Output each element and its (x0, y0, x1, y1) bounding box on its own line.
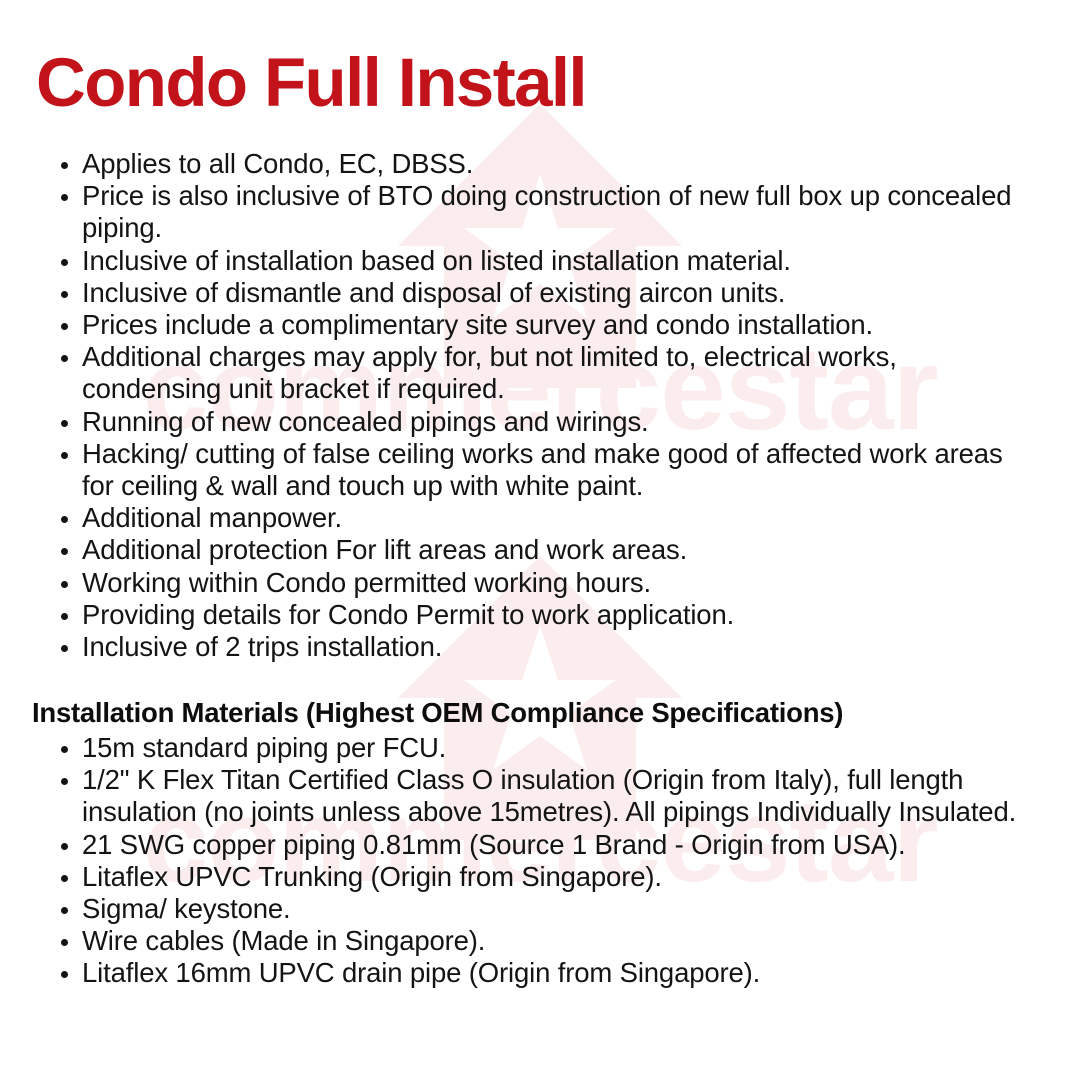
page-title: Condo Full Install (36, 48, 586, 117)
list-item: Litaflex 16mm UPVC drain pipe (Origin fr… (0, 957, 1080, 989)
list-item: Inclusive of installation based on liste… (0, 245, 1080, 277)
list-item: Providing details for Condo Permit to wo… (0, 599, 1080, 631)
list-item: Running of new concealed pipings and wir… (0, 406, 1080, 438)
list-item: Hacking/ cutting of false ceiling works … (0, 438, 1080, 502)
list-item: Working within Condo permitted working h… (0, 567, 1080, 599)
list-item: Prices include a complimentary site surv… (0, 309, 1080, 341)
list-item: Sigma/ keystone. (0, 893, 1080, 925)
list-item: 15m standard piping per FCU. (0, 732, 1080, 764)
installation-materials-heading: Installation Materials (Highest OEM Comp… (32, 697, 843, 729)
list-item: Applies to all Condo, EC, DBSS. (0, 148, 1080, 180)
materials-bullet-list: 15m standard piping per FCU. 1/2" K Flex… (0, 732, 1080, 990)
list-item: Inclusive of 2 trips installation. (0, 631, 1080, 663)
list-item: Wire cables (Made in Singapore). (0, 925, 1080, 957)
list-item: Litaflex UPVC Trunking (Origin from Sing… (0, 861, 1080, 893)
list-item: Price is also inclusive of BTO doing con… (0, 180, 1080, 244)
list-item: Inclusive of dismantle and disposal of e… (0, 277, 1080, 309)
scope-bullet-list: Applies to all Condo, EC, DBSS. Price is… (0, 148, 1080, 663)
list-item: 21 SWG copper piping 0.81mm (Source 1 Br… (0, 829, 1080, 861)
list-item: Additional charges may apply for, but no… (0, 341, 1080, 405)
list-item: Additional manpower. (0, 502, 1080, 534)
list-item: 1/2" K Flex Titan Certified Class O insu… (0, 764, 1080, 828)
product-description-page: commercestar commercestar Condo Full Ins… (0, 0, 1080, 1080)
list-item: Additional protection For lift areas and… (0, 534, 1080, 566)
